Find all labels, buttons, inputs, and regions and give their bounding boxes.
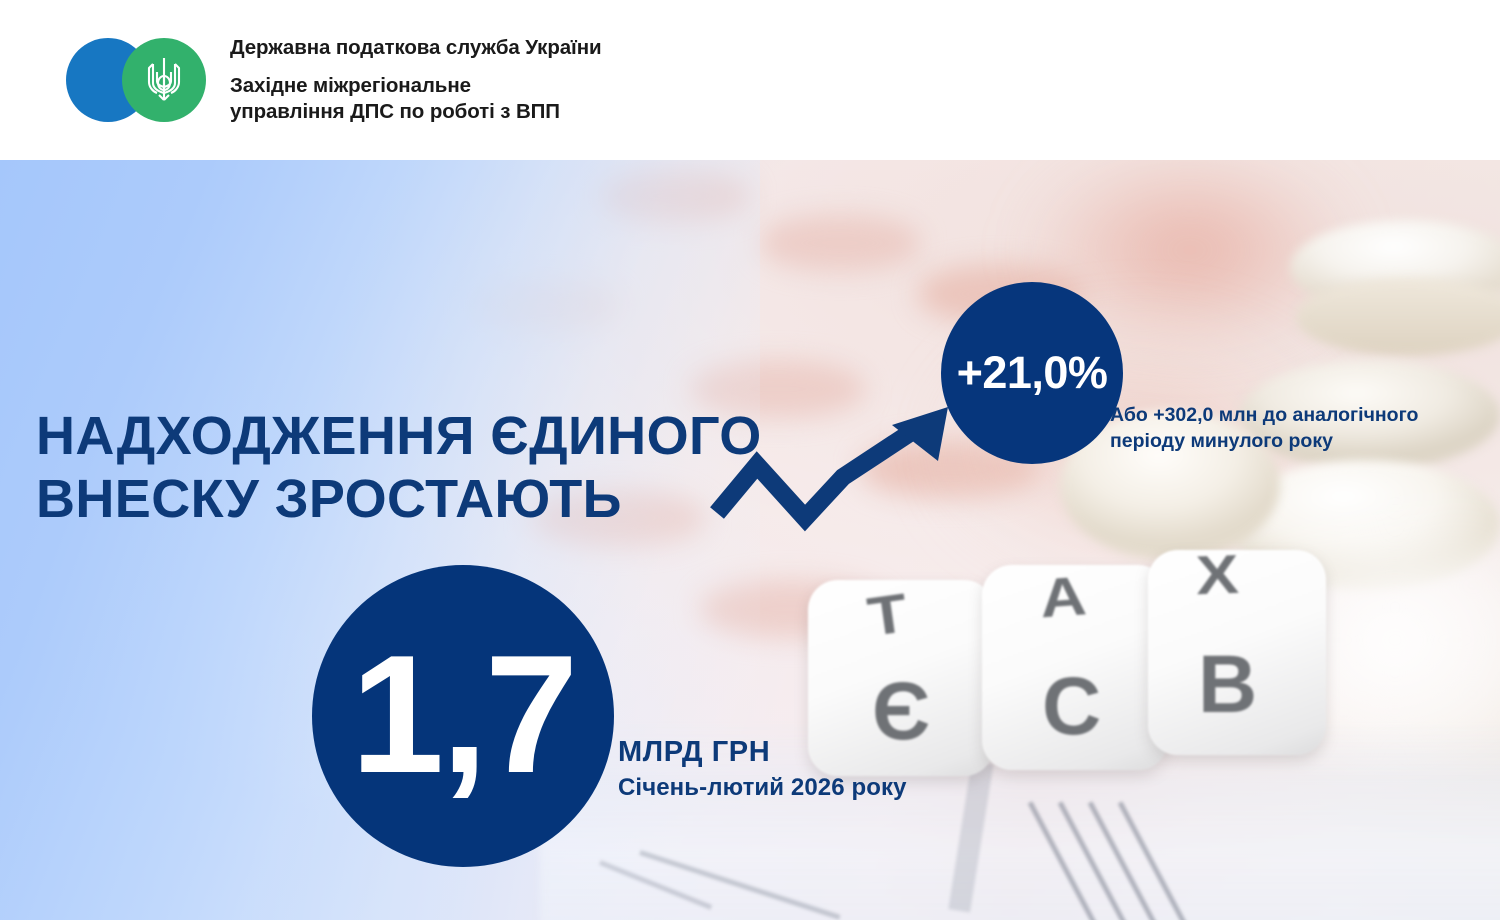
growth-percent-badge: +21,0%: [941, 282, 1123, 464]
total-value-number: 1,7: [351, 630, 576, 798]
header-bar: Державна податкова служба України Західн…: [0, 0, 1500, 160]
total-value-badge: 1,7: [312, 565, 614, 867]
agency-name-secondary-line1: Західне міжрегіональне: [230, 73, 890, 99]
ukraine-trident-icon: [122, 38, 206, 122]
agency-name-block: Державна податкова служба України Західн…: [230, 38, 890, 125]
agency-logo: [66, 38, 206, 122]
poster-content: НАДХОДЖЕННЯ ЄДИНОГО ВНЕСКУ ЗРОСТАЮТЬ +21…: [0, 160, 1500, 920]
agency-name-primary: Державна податкова служба України: [230, 38, 890, 59]
growth-caption: Або +302,0 млн до аналогічного періоду м…: [1110, 403, 1500, 454]
agency-name-secondary-line2: управління ДПС по роботі з ВПП: [230, 99, 890, 125]
infographic-poster: T Є A C X B: [0, 0, 1500, 920]
total-value-period: Січень-лютий 2026 року: [618, 774, 907, 802]
total-value-unit: МЛРД ГРН: [618, 736, 770, 769]
upward-trend-arrow-icon: [700, 405, 980, 535]
growth-percent-value: +21,0%: [957, 347, 1108, 399]
growth-caption-line-2: періоду минулого року: [1110, 429, 1500, 455]
growth-caption-line-1: Або +302,0 млн до аналогічного: [1110, 403, 1500, 429]
